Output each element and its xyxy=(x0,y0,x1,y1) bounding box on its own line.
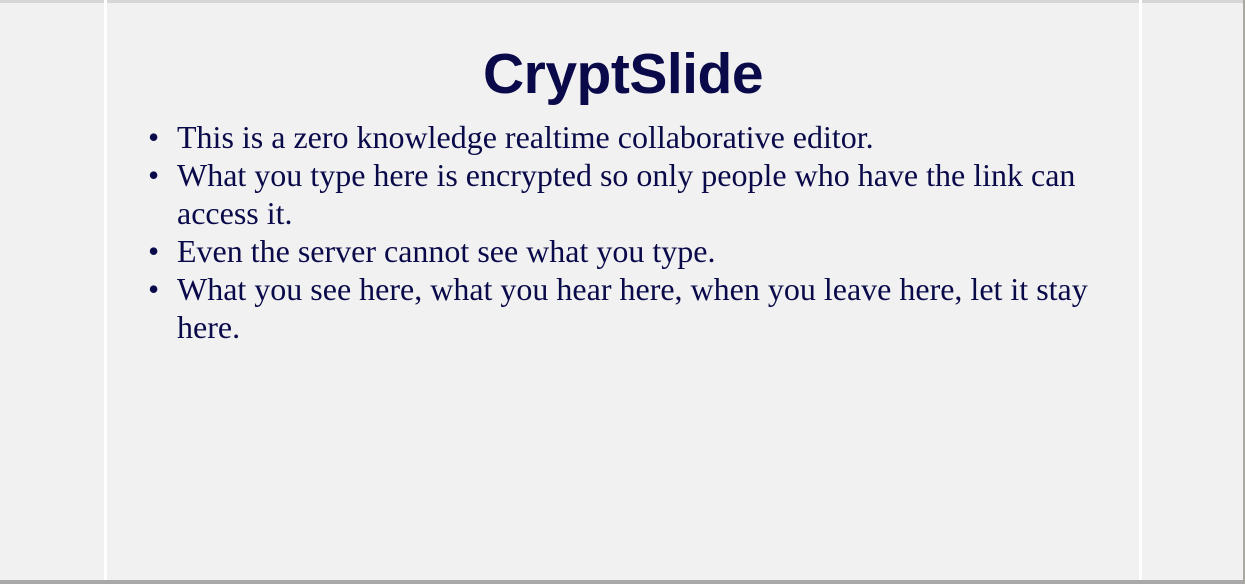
list-item[interactable]: • Even the server cannot see what you ty… xyxy=(107,232,1139,270)
bullet-point-icon: • xyxy=(148,118,164,156)
bullet-point-icon: • xyxy=(148,232,164,270)
slide-title[interactable]: CryptSlide xyxy=(107,42,1139,106)
slide-viewport: CryptSlide • This is a zero knowledge re… xyxy=(0,0,1245,584)
slide-canvas[interactable]: CryptSlide • This is a zero knowledge re… xyxy=(107,3,1139,580)
slide-body[interactable]: • This is a zero knowledge realtime coll… xyxy=(107,118,1139,346)
bullet-list: • This is a zero knowledge realtime coll… xyxy=(107,118,1139,346)
list-item[interactable]: • What you see here, what you hear here,… xyxy=(107,270,1139,346)
list-item-text: What you see here, what you hear here, w… xyxy=(177,270,1099,346)
bottom-edge-rule xyxy=(0,580,1245,584)
list-item-text: What you type here is encrypted so only … xyxy=(177,156,1099,232)
list-item[interactable]: • What you type here is encrypted so onl… xyxy=(107,156,1139,232)
list-item-text: This is a zero knowledge realtime collab… xyxy=(177,118,1099,156)
list-item[interactable]: • This is a zero knowledge realtime coll… xyxy=(107,118,1139,156)
bullet-point-icon: • xyxy=(148,270,164,308)
list-item-text: Even the server cannot see what you type… xyxy=(177,232,1099,270)
slide-right-gutter-divider xyxy=(1139,0,1142,584)
bullet-point-icon: • xyxy=(148,156,164,194)
